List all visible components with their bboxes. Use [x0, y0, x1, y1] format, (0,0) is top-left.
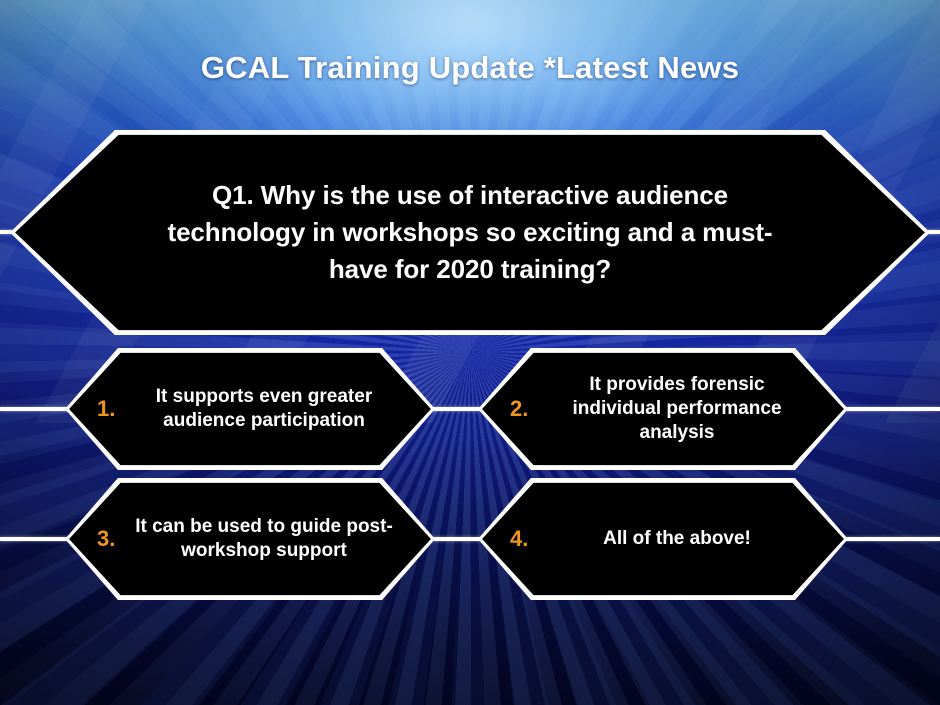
answer-3-connector-left — [0, 537, 70, 541]
answer-4-connector-right — [843, 537, 940, 541]
answer-option-2[interactable]: 2. It provides forensic individual perfo… — [478, 348, 848, 470]
answer-option-2-text: It provides forensic individual performa… — [546, 373, 814, 445]
question-text: Q1. Why is the use of interactive audien… — [10, 177, 930, 288]
answer-option-1-text: It supports even greater audience partic… — [133, 385, 401, 433]
answer-option-4[interactable]: 4. All of the above! — [478, 478, 848, 600]
answer-option-3-number: 3. — [87, 526, 133, 552]
answer-option-4-number: 4. — [500, 526, 546, 552]
answer-row-1-connector-middle — [430, 407, 483, 411]
quiz-slide: GCAL Training Update *Latest News Q1. Wh… — [0, 0, 940, 705]
answer-option-3-text: It can be used to guide post-workshop su… — [133, 515, 401, 563]
answer-option-3[interactable]: 3. It can be used to guide post-workshop… — [65, 478, 435, 600]
answer-row-2-connector-middle — [430, 537, 483, 541]
question-panel: Q1. Why is the use of interactive audien… — [10, 130, 930, 335]
answer-option-1[interactable]: 1. It supports even greater audience par… — [65, 348, 435, 470]
answer-option-1-number: 1. — [87, 396, 133, 422]
answer-1-connector-left — [0, 407, 70, 411]
slide-title: GCAL Training Update *Latest News — [0, 50, 940, 86]
answer-2-connector-right — [843, 407, 940, 411]
answer-option-4-text: All of the above! — [546, 527, 814, 551]
answer-option-2-number: 2. — [500, 396, 546, 422]
